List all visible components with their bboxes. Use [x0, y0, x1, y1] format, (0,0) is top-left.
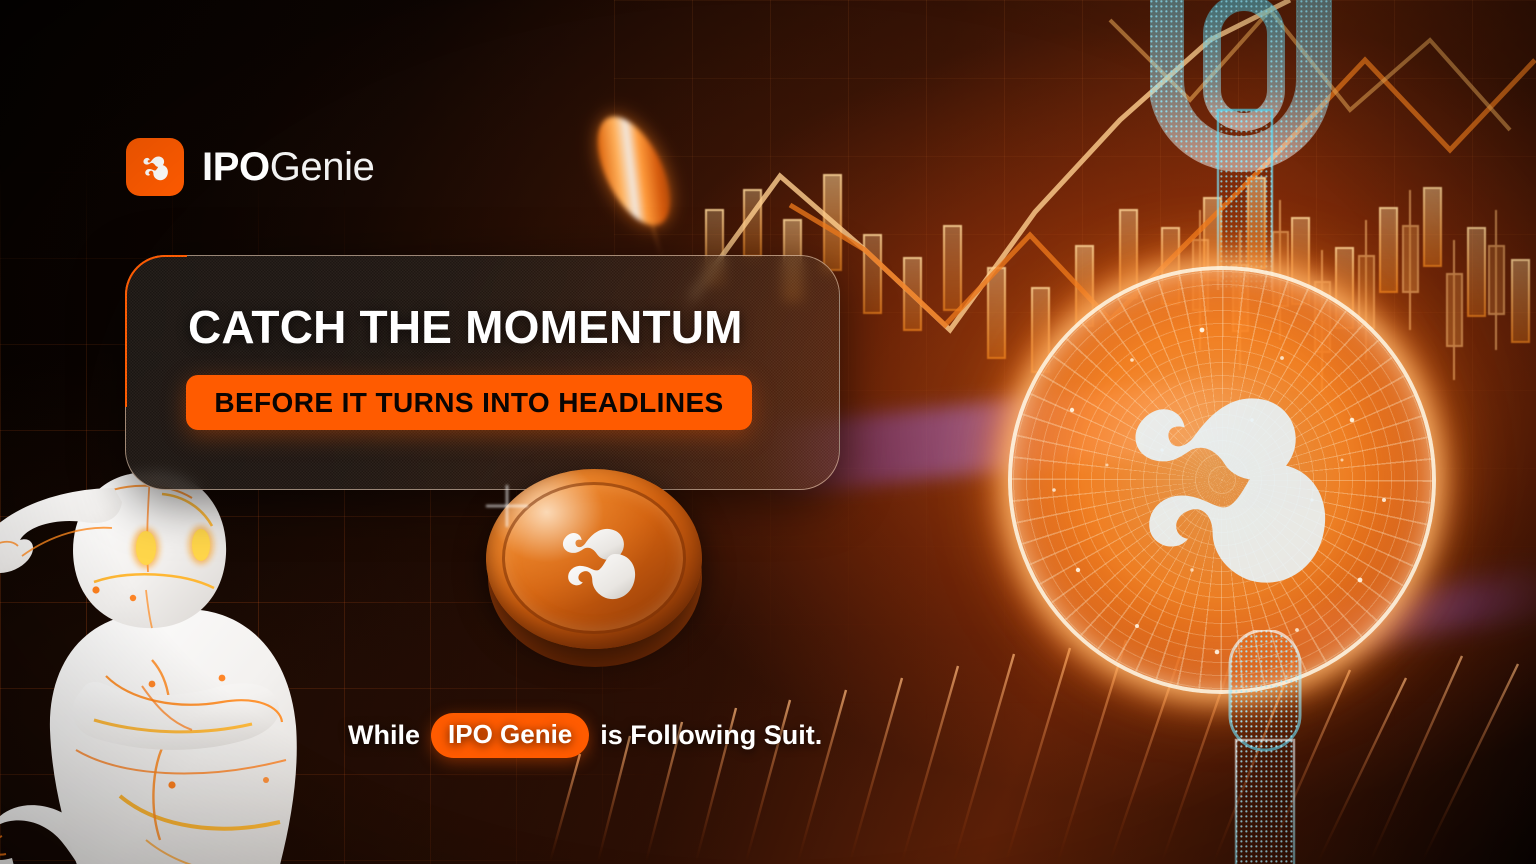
genie-mascot	[0, 430, 350, 864]
card-noise-overlay	[126, 256, 839, 489]
blockchain-link-top-icon	[1150, 0, 1340, 290]
marketing-banner: CATCH THE MOMENTUM BEFORE IT TURNS INTO …	[0, 0, 1536, 864]
brand-name-bold: IPO	[202, 145, 270, 189]
ipo-genie-coin	[480, 463, 718, 661]
hero-message-card: CATCH THE MOMENTUM BEFORE IT TURNS INTO …	[125, 255, 840, 490]
blockchain-link-bottom-icon	[1190, 630, 1340, 864]
page-title: CATCH THE MOMENTUM	[188, 304, 743, 350]
tagline-suffix: is Following Suit.	[600, 720, 822, 751]
subline-highlight-button[interactable]: BEFORE IT TURNS INTO HEADLINES	[186, 375, 752, 430]
coin-genie-logo-icon	[534, 501, 660, 619]
subline-label: BEFORE IT TURNS INTO HEADLINES	[214, 387, 723, 419]
tagline-prefix: While	[348, 720, 420, 751]
brand-logo[interactable]: IPOGenie	[126, 138, 374, 196]
brand-name-light: Genie	[270, 145, 375, 189]
brand-wordmark: IPOGenie	[202, 147, 374, 187]
sphere-genie-logo-icon	[1070, 325, 1380, 635]
genie-lamp-icon	[126, 138, 184, 196]
coin-sparkle-icon	[486, 485, 528, 527]
tagline: While IPO Genie is Following Suit.	[348, 713, 822, 758]
tagline-brand-pill[interactable]: IPO Genie	[431, 713, 589, 758]
blockchain-sphere-cluster	[960, 0, 1520, 864]
